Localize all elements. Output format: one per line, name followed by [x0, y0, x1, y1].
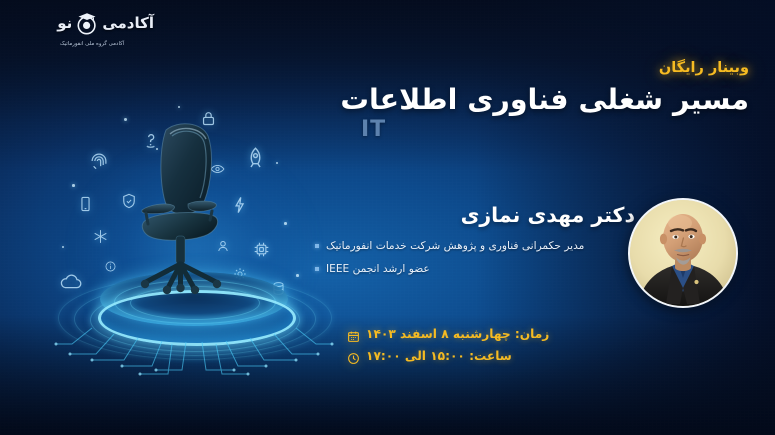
logo-word-right: آکادمی [102, 14, 154, 32]
logo-word-left: نو [57, 14, 72, 32]
credential-text: عضو ارشد انجمن IEEE [326, 261, 430, 277]
brand-tagline: آکادمی گروه ملی انفورماتیک [30, 41, 154, 47]
calendar-icon [347, 328, 360, 341]
fingerprint-icon [88, 150, 110, 176]
snowflake-icon [92, 228, 109, 249]
schedule-row-time: ساعت: ۱۵:۰۰ الی ۱۷:۰۰ [347, 349, 597, 364]
brand-logo: آکادمی نو آکادمی گروه ملی انفورماتیک [14, 8, 154, 54]
hero-artwork [28, 88, 358, 418]
speaker-name: دکتر مهدی نمازی [315, 203, 635, 229]
mobile-icon [80, 196, 91, 216]
bullet-icon [315, 244, 319, 248]
office-chair-illustration [116, 116, 266, 296]
speaker-credentials: مدیر حکمرانی فناوری و پژوهش شرکت خدمات ا… [315, 238, 635, 277]
circuit-traces [52, 308, 336, 378]
speaker-block: دکتر مهدی نمازی مدیر حکمرانی فناوری و پژ… [315, 203, 635, 293]
schedule-row-date: زمان: چهارشنبه ۸ اسفند ۱۴۰۳ [347, 327, 597, 342]
title-block: وبینار رایگان مسیر شغلی فناوری اطلاعات I… [319, 60, 749, 142]
logo-row: آکادمی نو [14, 8, 154, 38]
list-item: مدیر حکمرانی فناوری و پژوهش شرکت خدمات ا… [315, 238, 635, 254]
subhead-it: IT [319, 117, 749, 142]
webinar-poster: آکادمی نو آکادمی گروه ملی انفورماتیک [0, 0, 775, 435]
schedule-date-text: زمان: چهارشنبه ۸ اسفند ۱۴۰۳ [366, 327, 549, 342]
clock-icon [347, 350, 360, 363]
schedule-time-text: ساعت: ۱۵:۰۰ الی ۱۷:۰۰ [366, 349, 512, 364]
avatar [628, 198, 738, 308]
list-item: عضو ارشد انجمن IEEE [315, 261, 635, 277]
bullet-icon [315, 267, 319, 271]
schedule-block: زمان: چهارشنبه ۸ اسفند ۱۴۰۳ ساعت: ۱۵:۰۰ … [347, 327, 597, 372]
credential-text: مدیر حکمرانی فناوری و پژوهش شرکت خدمات ا… [326, 238, 584, 254]
eyebrow-free-webinar: وبینار رایگان [319, 60, 749, 77]
graduation-cap-icon [74, 10, 100, 36]
page-title: مسیر شغلی فناوری اطلاعات [319, 83, 749, 118]
